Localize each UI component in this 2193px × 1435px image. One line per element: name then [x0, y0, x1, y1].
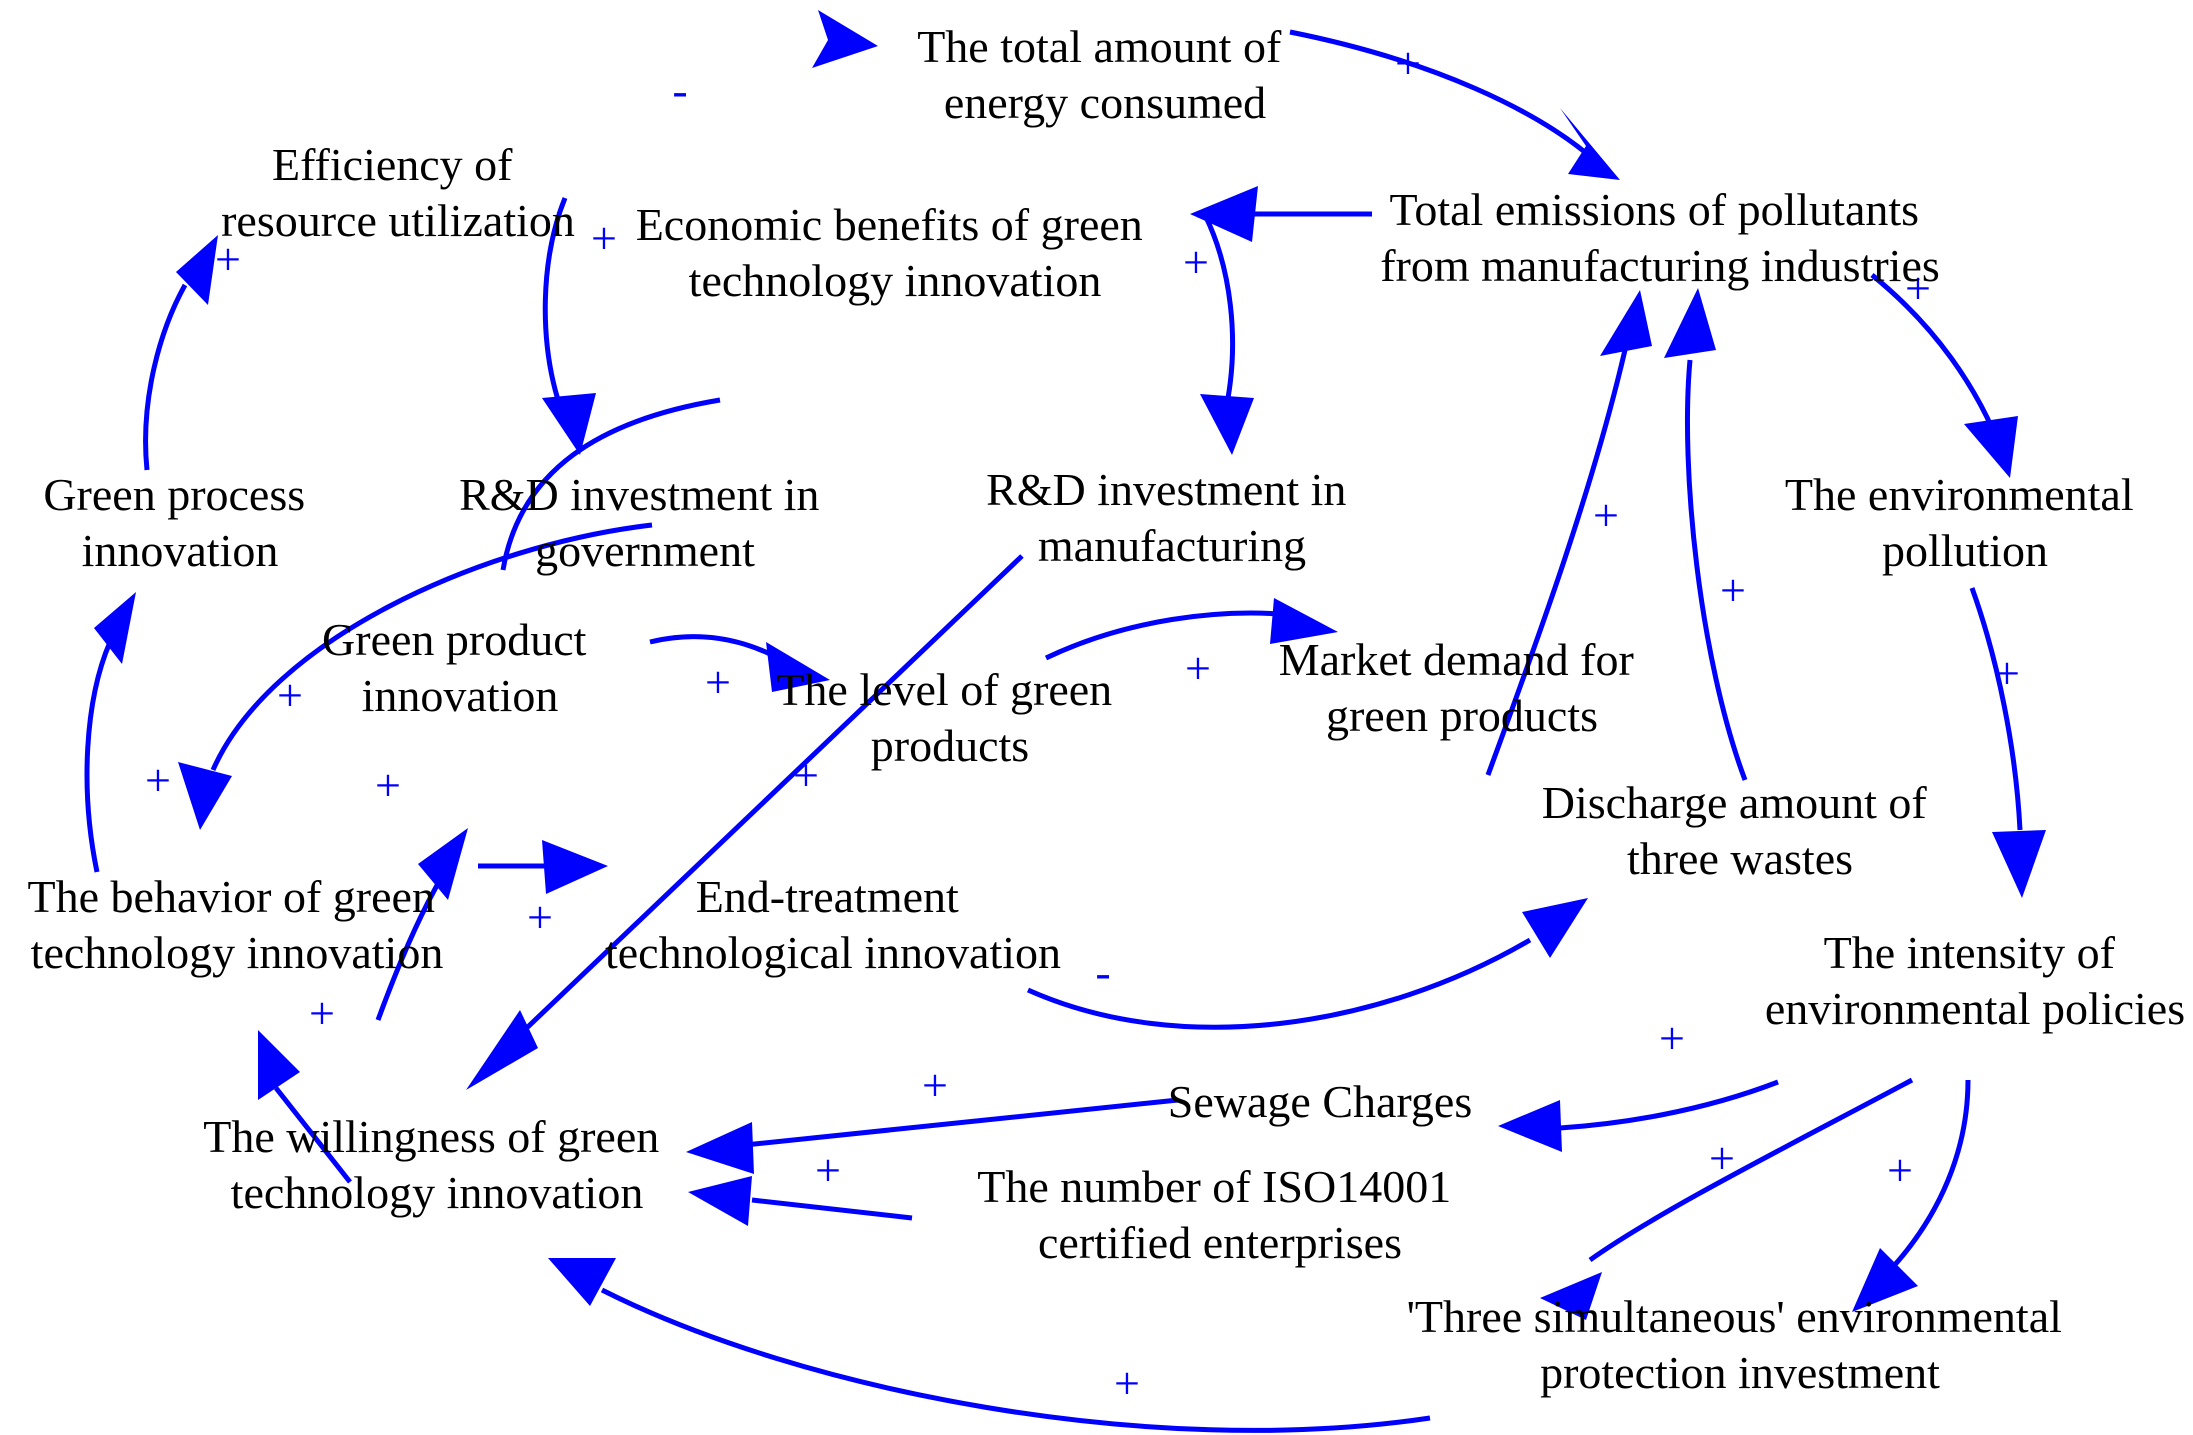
node-line: government: [535, 525, 755, 576]
link-green-process-to-efficiency[interactable]: [146, 235, 218, 470]
arrow-head: [1498, 1100, 1562, 1152]
sign-efficiency-to-total-energy: -: [672, 65, 687, 116]
link-path: [1590, 1080, 1912, 1260]
arrow-head: [1522, 898, 1588, 958]
sign-level-to-market-demand: +: [1185, 643, 1211, 694]
arrow-head: [1190, 186, 1258, 242]
link-total-emissions-to-environmental-pollution[interactable]: [1872, 275, 2018, 478]
link-path: [602, 1290, 1430, 1430]
link-discharge-to-total-emissions[interactable]: [1664, 288, 1745, 780]
node-behavior-green[interactable]: The behavior of green technology innovat…: [28, 871, 447, 978]
link-path: [146, 285, 185, 470]
node-efficiency[interactable]: Efficiency of resource utilization: [221, 139, 575, 246]
causal-loop-diagram-canvas: - + + + + + + + + + + + + + + + - + + + …: [0, 0, 2193, 1435]
node-rd-manufacturing[interactable]: R&D investment in manufacturing: [986, 464, 1358, 571]
node-line: Economic benefits of green: [636, 199, 1143, 250]
arrow-head: [1200, 394, 1254, 455]
sign-behavior-to-green-product: +: [375, 760, 401, 811]
sign-rd-manufacturing-to-willingness: +: [793, 750, 819, 801]
link-path: [1972, 588, 2020, 830]
sign-total-energy-to-total-emissions: +: [1395, 38, 1421, 89]
arrow-head: [1560, 108, 1620, 180]
arrow-head: [548, 1258, 616, 1306]
node-line: 'Three simultaneous' environmental: [1407, 1291, 2062, 1342]
node-sewage-charges[interactable]: Sewage Charges: [1168, 1076, 1472, 1127]
sign-economic-benefits-to-rd-manufacturing: +: [1183, 237, 1209, 288]
sign-intensity-to-iso: +: [1709, 1133, 1735, 1184]
node-line: manufacturing: [1038, 520, 1306, 571]
node-line: certified enterprises: [1038, 1217, 1402, 1268]
node-economic-benefits[interactable]: Economic benefits of green technology in…: [636, 199, 1155, 306]
node-line: Discharge amount of: [1542, 777, 1928, 828]
sign-iso-to-willingness: +: [815, 1145, 841, 1196]
node-line: innovation: [82, 525, 279, 576]
sign-market-demand-to-total-emissions: +: [1593, 490, 1619, 541]
node-line: Efficiency of: [272, 139, 513, 190]
link-three-simultaneous-to-willingness[interactable]: [548, 1258, 1430, 1430]
sign-environmental-pollution-to-intensity: +: [1994, 648, 2020, 699]
link-end-treatment-to-discharge[interactable]: [1028, 898, 1588, 1027]
node-total-emissions[interactable]: Total emissions of pollutants from manuf…: [1380, 184, 1940, 291]
link-intensity-to-sewage[interactable]: [1498, 1082, 1778, 1152]
link-total-energy-to-total-emissions[interactable]: [1290, 32, 1620, 180]
node-environmental-pollution[interactable]: The environmental pollution: [1785, 469, 2145, 576]
link-path: [87, 642, 110, 872]
node-line: from manufacturing industries: [1380, 240, 1940, 291]
causal-loop-diagram: - + + + + + + + + + + + + + + + - + + + …: [0, 0, 2193, 1435]
node-line: The behavior of green: [28, 871, 435, 922]
arrow-head: [542, 840, 608, 894]
node-line: Green process: [43, 469, 305, 520]
arrow-head: [686, 1122, 754, 1174]
arrow-head: [1992, 830, 2046, 898]
sign-willingness-to-behavior: +: [309, 988, 335, 1039]
sign-behavior-to-green-process: +: [145, 755, 171, 806]
sign-behavior-to-end-treatment: +: [527, 892, 553, 943]
link-path: [1560, 1082, 1778, 1128]
sign-sewage-to-willingness: +: [922, 1060, 948, 1111]
node-line: R&D investment in: [459, 469, 819, 520]
node-line: The total amount of: [917, 21, 1282, 72]
node-level-green-products[interactable]: The level of green products: [776, 664, 1123, 771]
node-line: technology innovation: [31, 927, 444, 978]
node-total-energy[interactable]: The total amount of energy consumed: [917, 21, 1293, 128]
node-line: green products: [1326, 690, 1598, 741]
node-line: Market demand for: [1279, 634, 1634, 685]
node-green-process[interactable]: Green process innovation: [43, 469, 316, 576]
node-discharge-wastes[interactable]: Discharge amount of three wastes: [1542, 777, 1938, 884]
node-line: energy consumed: [944, 77, 1266, 128]
node-line: R&D investment in: [986, 464, 1346, 515]
node-line: pollution: [1882, 525, 2048, 576]
link-iso-to-willingness[interactable]: [688, 1176, 912, 1226]
node-three-simultaneous[interactable]: 'Three simultaneous' environmental prote…: [1407, 1291, 2074, 1398]
node-line: Sewage Charges: [1168, 1076, 1472, 1127]
sign-intensity-to-three-simultaneous: +: [1887, 1145, 1913, 1196]
node-line: protection investment: [1540, 1347, 1940, 1398]
node-line: products: [871, 720, 1029, 771]
sign-rd-government-to-behavior: +: [277, 670, 303, 721]
link-total-emissions-to-economic-benefits[interactable]: [1190, 186, 1372, 242]
node-intensity-policies[interactable]: The intensity of environmental policies: [1765, 927, 2185, 1034]
node-line: The level of green: [776, 664, 1112, 715]
link-path: [1872, 275, 1993, 430]
node-line: Green product: [322, 614, 587, 665]
node-market-demand[interactable]: Market demand for green products: [1279, 634, 1646, 741]
sign-three-simultaneous-to-willingness: +: [1114, 1358, 1140, 1409]
link-path: [650, 637, 770, 654]
link-path: [752, 1200, 912, 1218]
link-behavior-to-green-product[interactable]: [378, 828, 468, 1020]
node-line: technology innovation: [231, 1167, 644, 1218]
link-path: [1290, 32, 1600, 165]
arrow-head: [812, 10, 878, 68]
node-line: The environmental: [1785, 469, 2134, 520]
sign-discharge-to-total-emissions: +: [1720, 565, 1746, 616]
link-intensity-to-iso[interactable]: [1540, 1080, 1912, 1320]
node-line: resource utilization: [221, 195, 575, 246]
link-path: [1205, 215, 1233, 398]
arrow-head: [1600, 290, 1652, 356]
sign-intensity-to-sewage: +: [1659, 1013, 1685, 1064]
node-line: End-treatment: [696, 871, 959, 922]
sign-green-product-to-level: +: [705, 657, 731, 708]
node-line: The willingness of green: [203, 1111, 659, 1162]
link-path: [1046, 613, 1280, 658]
node-willingness-green[interactable]: The willingness of green technology inno…: [203, 1111, 671, 1218]
node-line: technological innovation: [605, 927, 1061, 978]
nodes-layer: The total amount of energy consumed Effi…: [28, 21, 2186, 1398]
node-green-product[interactable]: Green product innovation: [322, 614, 598, 721]
arrow-head: [178, 762, 232, 830]
link-path: [745, 1100, 1178, 1145]
arrow-head: [94, 592, 136, 664]
link-behavior-to-end-treatment[interactable]: [478, 840, 608, 894]
node-line: technology innovation: [689, 255, 1102, 306]
sign-end-treatment-to-discharge: -: [1095, 947, 1110, 998]
node-line: The intensity of: [1824, 927, 2116, 978]
arrow-head: [466, 1010, 538, 1090]
node-line: environmental policies: [1765, 983, 2185, 1034]
link-intensity-to-three-simultaneous[interactable]: [1852, 1080, 1968, 1312]
sign-economic-benefits-to-rd-government: +: [591, 213, 617, 264]
link-environmental-pollution-to-intensity[interactable]: [1972, 588, 2046, 898]
node-line: three wastes: [1627, 833, 1853, 884]
link-behavior-to-green-process[interactable]: [87, 592, 136, 872]
node-line: The number of ISO14001: [977, 1161, 1451, 1212]
node-line: Total emissions of pollutants: [1389, 184, 1919, 235]
node-iso-enterprises[interactable]: The number of ISO14001 certified enterpr…: [977, 1161, 1462, 1268]
node-line: innovation: [362, 670, 559, 721]
arrow-head: [688, 1176, 752, 1226]
arrow-head: [1664, 288, 1716, 358]
